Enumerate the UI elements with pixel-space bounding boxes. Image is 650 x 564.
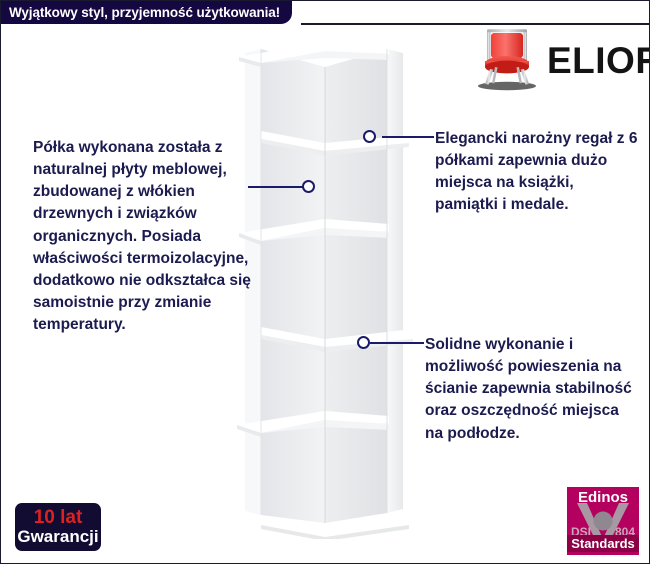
callout-text-shelves: Elegancki narożny regał z 6 półkami zape… (435, 128, 640, 217)
leader-line-callout-shelves (382, 136, 434, 138)
product-image-corner-bookcase (237, 27, 413, 539)
leader-line-callout-material (248, 186, 304, 188)
leader-line-callout-mounting (370, 342, 424, 344)
callout-marker-mounting[interactable] (357, 336, 370, 349)
brand-logo: ELIOR (471, 25, 646, 95)
header-divider-line (301, 23, 650, 25)
callout-text-material: Półka wykonana została z naturalnej płyt… (33, 137, 255, 336)
header-banner: Wyjątkowy styl, przyjemność użytkowania! (0, 1, 292, 24)
callout-marker-shelves[interactable] (363, 130, 376, 143)
infographic-page: Wyjątkowy styl, przyjemność użytkowania! (0, 0, 650, 564)
edinos-standards-label: Standards (567, 535, 639, 552)
warranty-label: Gwarancji (17, 528, 98, 547)
red-chair-icon (471, 26, 543, 94)
warranty-badge: 10 lat Gwarancji (15, 503, 101, 551)
callout-marker-material[interactable] (302, 180, 315, 193)
edinos-title: Edinos (567, 489, 639, 506)
warranty-years: 10 lat (34, 508, 83, 528)
callout-text-mounting: Solidne wykonanie i możliwość powieszeni… (425, 334, 640, 445)
edinos-certification-badge: Edinos DSI 804 Standards (567, 487, 639, 555)
brand-name: ELIOR (547, 42, 650, 79)
header-banner-text: Wyjątkowy styl, przyjemność użytkowania! (9, 5, 280, 20)
